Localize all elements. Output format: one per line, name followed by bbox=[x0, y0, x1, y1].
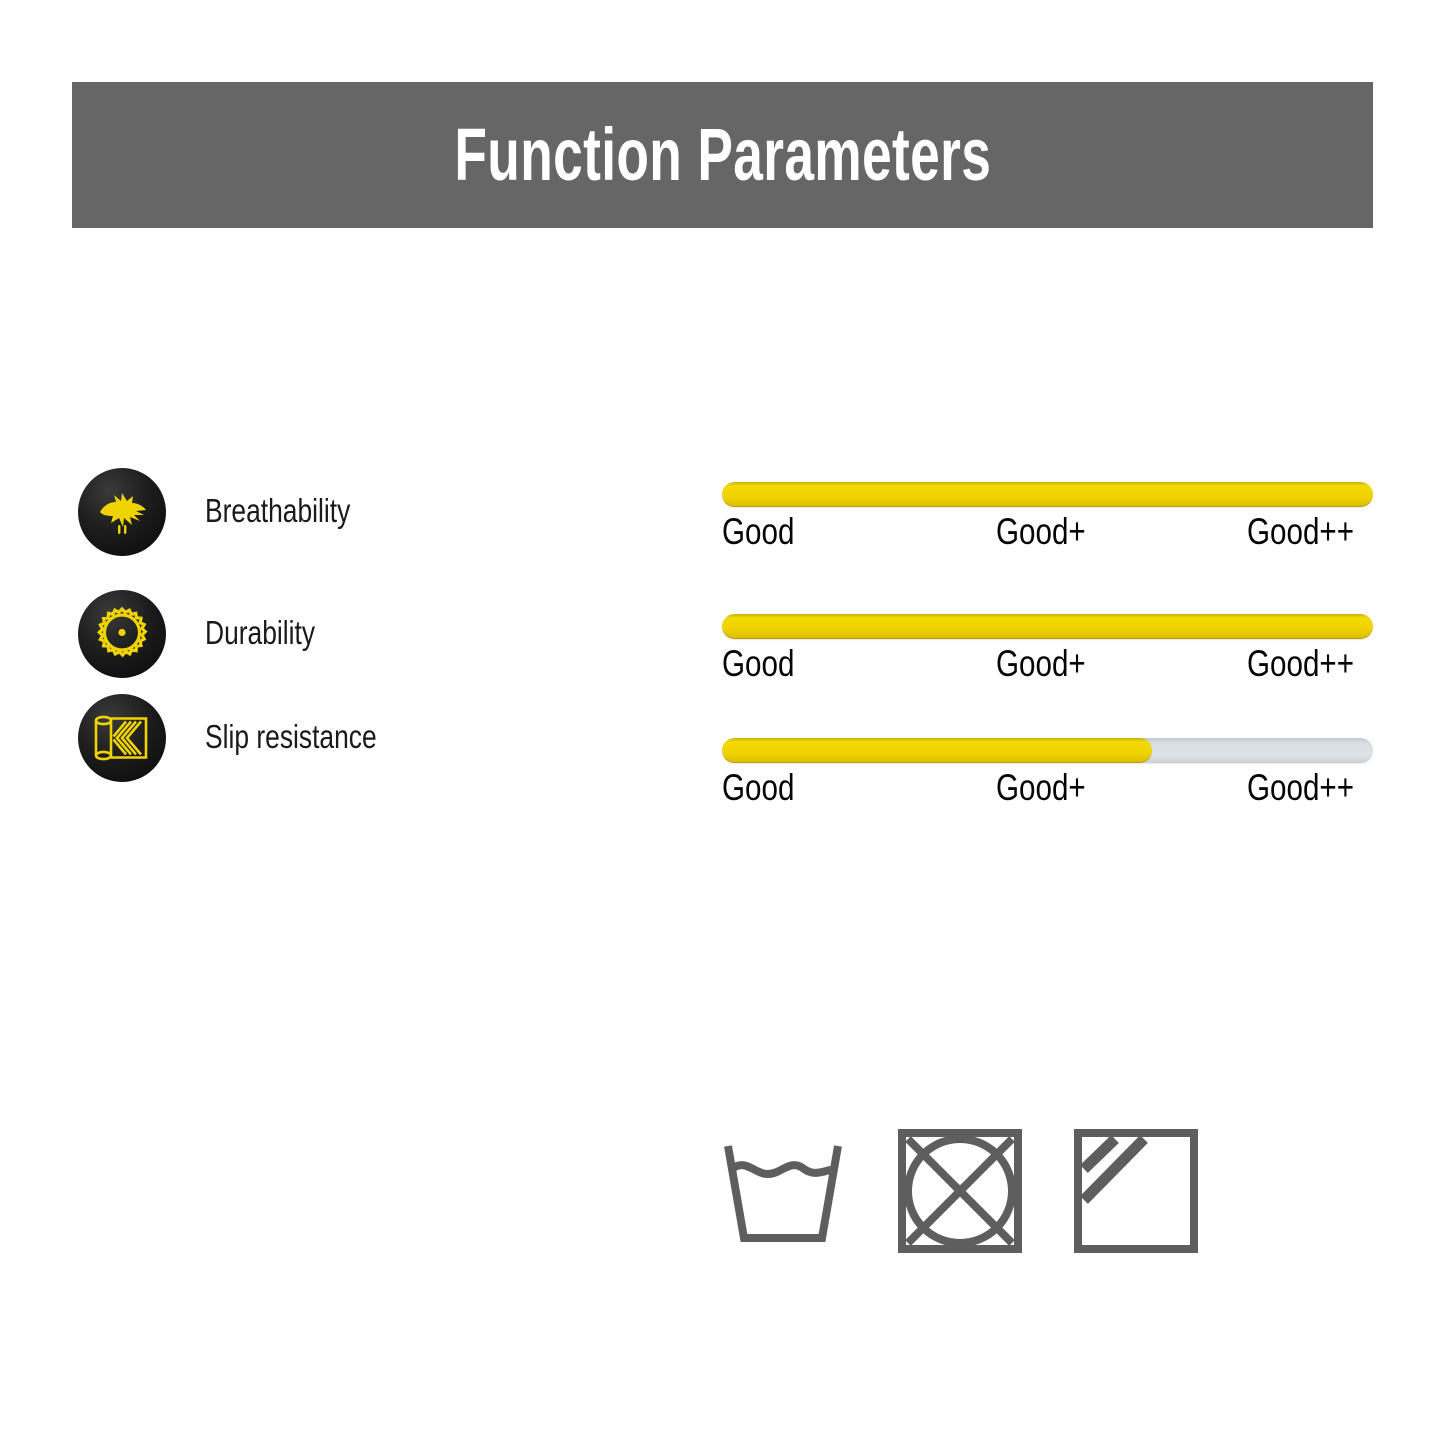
parameter-label: Breathability bbox=[205, 494, 350, 527]
parameter-meter: Good Good+ Good++ bbox=[722, 482, 1373, 559]
parameter-label: Slip resistance bbox=[205, 720, 377, 753]
meter-track bbox=[722, 614, 1373, 639]
do-not-tumble-dry-icon bbox=[896, 1128, 1024, 1254]
scale-label-high: Good++ bbox=[1247, 769, 1354, 806]
scale-label-low: Good bbox=[722, 645, 794, 682]
saw-blade-durability-icon bbox=[78, 590, 166, 678]
parameter-meter: Good Good+ Good++ bbox=[722, 614, 1373, 691]
scale-label-mid: Good+ bbox=[996, 769, 1086, 806]
meter-scale: Good Good+ Good++ bbox=[722, 513, 1373, 559]
scale-label-high: Good++ bbox=[1247, 513, 1354, 550]
bird-breathability-icon bbox=[78, 468, 166, 556]
tread-roll-slip-resistance-icon bbox=[78, 694, 166, 782]
scale-label-low: Good bbox=[722, 513, 794, 550]
meter-scale: Good Good+ Good++ bbox=[722, 645, 1373, 691]
scale-label-high: Good++ bbox=[1247, 645, 1354, 682]
meter-scale: Good Good+ Good++ bbox=[722, 769, 1373, 815]
wash-tub-icon bbox=[718, 1128, 848, 1254]
care-symbols-group bbox=[718, 1128, 1218, 1268]
scale-label-mid: Good+ bbox=[996, 645, 1086, 682]
meter-fill bbox=[722, 482, 1373, 507]
meter-track bbox=[722, 482, 1373, 507]
meter-track bbox=[722, 738, 1373, 763]
parameter-meter: Good Good+ Good++ bbox=[722, 738, 1373, 815]
meter-fill bbox=[722, 738, 1152, 763]
scale-label-mid: Good+ bbox=[996, 513, 1086, 550]
scale-label-low: Good bbox=[722, 769, 794, 806]
parameter-label: Durability bbox=[205, 616, 315, 649]
meter-fill bbox=[722, 614, 1373, 639]
dry-in-shade-icon bbox=[1072, 1128, 1200, 1254]
